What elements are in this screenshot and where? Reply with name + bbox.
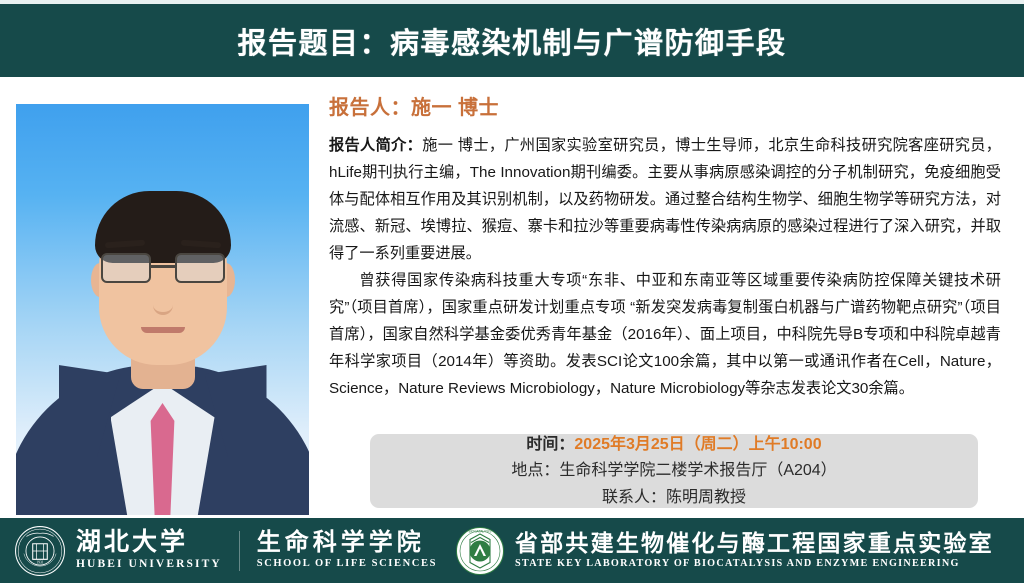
speaker-bio: 报告人简介：施一 博士，广州国家实验室研究员，博士生导师，北京生命科技研究院客座… — [329, 132, 1001, 402]
school-name-en: SCHOOL OF LIFE SCIENCES — [257, 558, 437, 571]
university-name-cn: 湖北大学 — [76, 529, 222, 557]
university-name-en: HUBEI UNIVERSITY — [76, 558, 222, 572]
state-key-lab-emblem-icon: BIOCATALYSIS — [455, 526, 505, 576]
speaker-photo — [16, 104, 309, 515]
event-details-box: 时间：2025年3月25日（周二）上午10:00 地点：生命科学学院二楼学术报告… — [370, 434, 978, 508]
page-title: 报告题目：病毒感染机制与广谱防御手段 — [237, 20, 786, 62]
svg-text:BIOCATALYSIS: BIOCATALYSIS — [469, 529, 493, 533]
school-of-life-sciences-logo: 生命科学学院 SCHOOL OF LIFE SCIENCES — [257, 530, 437, 571]
hubei-university-emblem-icon: 1931 — [14, 525, 66, 577]
portrait-nose — [153, 290, 173, 315]
school-text: 生命科学学院 SCHOOL OF LIFE SCIENCES — [257, 530, 437, 571]
state-key-lab-logo: BIOCATALYSIS 省部共建生物催化与酶工程国家重点实验室 STATE K… — [455, 526, 994, 576]
state-key-lab-text: 省部共建生物催化与酶工程国家重点实验室 STATE KEY LABORATORY… — [515, 531, 994, 571]
lab-name-cn: 省部共建生物催化与酶工程国家重点实验室 — [515, 531, 994, 556]
hubei-university-logo: 1931 湖北大学 HUBEI UNIVERSITY — [14, 525, 222, 577]
event-time-row: 时间：2025年3月25日（周二）上午10:00 — [526, 433, 821, 456]
event-contact: 联系人：陈明周教授 — [602, 486, 746, 509]
event-time-label: 时间： — [526, 436, 574, 453]
bio-label: 报告人简介： — [329, 137, 422, 154]
hubei-university-text: 湖北大学 HUBEI UNIVERSITY — [76, 529, 222, 572]
bio-paragraph-2: 曾获得国家传染病科技重大专项“东非、中亚和东南亚等区域重要传染病防控保障关键技术… — [329, 267, 1001, 402]
lab-name-en: STATE KEY LABORATORY OF BIOCATALYSIS AND… — [515, 558, 994, 570]
portrait-mouth — [141, 327, 185, 333]
footer-banner: 1931 湖北大学 HUBEI UNIVERSITY 生命科学学院 SCHOOL… — [0, 518, 1024, 583]
glasses-bridge — [151, 265, 175, 268]
glasses-lens-left — [101, 253, 151, 283]
event-location: 地点：生命科学学院二楼学术报告厅（A204） — [511, 459, 836, 482]
content-column: 报告人：施一 博士 报告人简介：施一 博士，广州国家实验室研究员，博士生导师，北… — [329, 96, 1001, 402]
event-time-value: 2025年3月25日（周二）上午10:00 — [574, 436, 821, 453]
bio-paragraph-1: 施一 博士，广州国家实验室研究员，博士生导师，北京生命科技研究院客座研究员，hL… — [329, 137, 1001, 262]
school-name-cn: 生命科学学院 — [257, 530, 437, 556]
seminar-poster: 报告题目：病毒感染机制与广谱防御手段 报告人：施一 博士 报告人简介：施一 博士… — [0, 0, 1024, 583]
glasses-lens-right — [175, 253, 225, 283]
svg-text:1931: 1931 — [36, 560, 43, 564]
speaker-heading: 报告人：施一 博士 — [329, 96, 1001, 120]
footer-divider — [239, 531, 240, 571]
header-banner: 报告题目：病毒感染机制与广谱防御手段 — [0, 4, 1024, 77]
portrait-glasses — [101, 253, 225, 283]
